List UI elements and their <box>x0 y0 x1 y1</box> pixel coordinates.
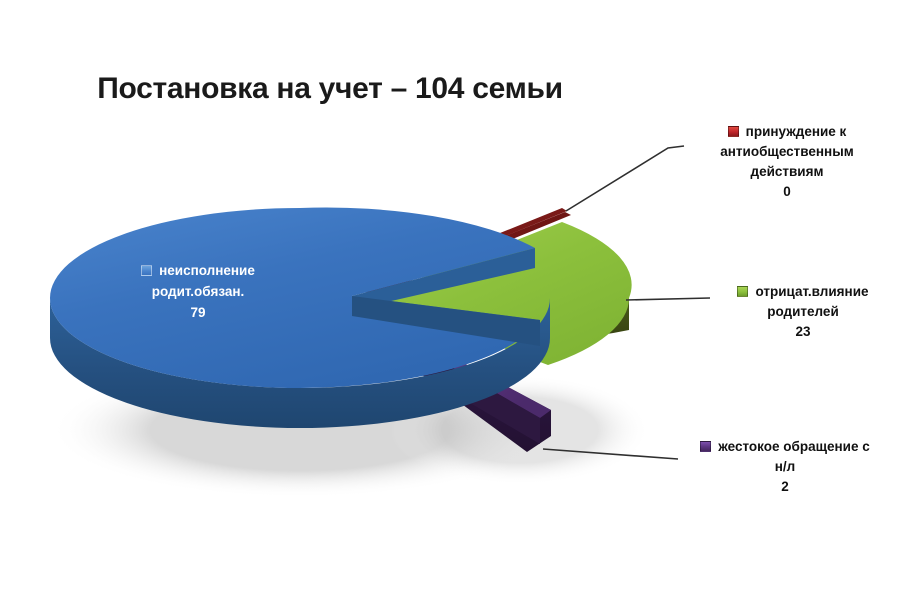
callout-red-line2: антиобщественным <box>682 142 892 162</box>
callout-purple-value: 2 <box>676 477 894 497</box>
callout-purple-line1: жестокое обращение с <box>718 439 869 454</box>
callout-blue-line1: неисполнение <box>159 263 255 278</box>
legend-swatch-purple <box>700 441 711 452</box>
slice-label-parental-duty: неисполнение родит.обязан. 79 <box>92 260 304 323</box>
callout-green-value: 23 <box>710 322 896 342</box>
callout-label-cruel-treatment: жестокое обращение с н/л 2 <box>676 437 894 497</box>
leader-line-green <box>626 298 710 300</box>
pie-chart-figure: Постановка на учет – 104 семьи <box>0 0 900 600</box>
callout-green-line2: родителей <box>710 302 896 322</box>
callout-red-value: 0 <box>682 182 892 202</box>
legend-swatch-blue <box>141 265 152 276</box>
legend-swatch-red <box>728 126 739 137</box>
callout-blue-line2: родит.обязан. <box>92 281 304 302</box>
callout-label-coercion: принуждение к антиобщественным действиям… <box>682 122 892 202</box>
leader-line-red <box>566 146 684 211</box>
callout-blue-value: 79 <box>92 302 304 323</box>
callout-red-line3: действиям <box>682 162 892 182</box>
legend-swatch-green <box>737 286 748 297</box>
callout-green-line1: отрицат.влияние <box>755 284 868 299</box>
callout-purple-line2: н/л <box>676 457 894 477</box>
callout-red-line1: принуждение к <box>746 124 847 139</box>
callout-label-negative-influence: отрицат.влияние родителей 23 <box>710 282 896 342</box>
